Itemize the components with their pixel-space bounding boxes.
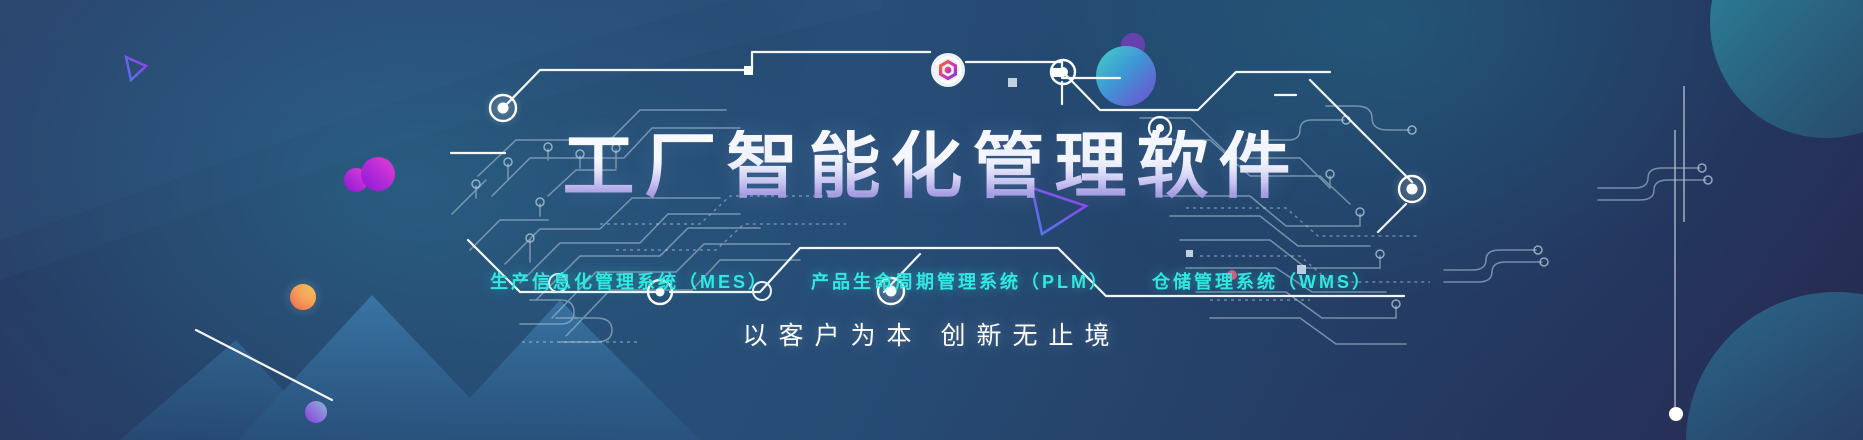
- circuit-node: [483, 88, 523, 128]
- circuit-square-node: [744, 66, 753, 75]
- circuit-highlight-layer: [0, 0, 1863, 440]
- hero-banner: 工厂智能化管理软件 生产信息化管理系统（MES） 产品生命周期管理系统（PLM）…: [0, 0, 1863, 440]
- tagline: 以客户为本 创新无止境: [0, 316, 1863, 352]
- page-title: 工厂智能化管理软件: [0, 130, 1863, 206]
- product-list: 生产信息化管理系统（MES） 产品生命周期管理系统（PLM） 仓储管理系统（WM…: [0, 268, 1863, 294]
- product-plm: 产品生命周期管理系统（PLM）: [811, 268, 1110, 294]
- product-mes: 生产信息化管理系统（MES）: [490, 268, 769, 294]
- product-wms: 仓储管理系统（WMS）: [1152, 268, 1373, 294]
- circuit-square-node: [1052, 68, 1061, 77]
- hex-node-icon: [931, 53, 965, 87]
